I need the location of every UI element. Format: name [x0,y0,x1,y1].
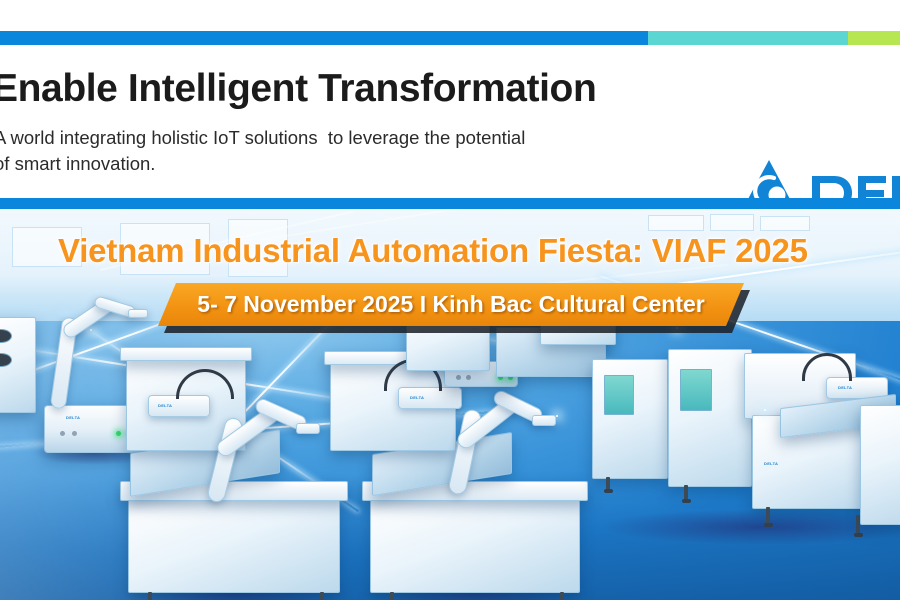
machine-display [604,375,634,415]
background-panel [760,216,810,231]
poster-page: Enable Intelligent Transformation A worl… [0,0,900,600]
header-divider [0,198,900,209]
machine-leg [148,592,152,600]
status-led [72,431,77,436]
brand-mark-label: DELTA [66,415,80,420]
event-title: Vietnam Industrial Automation Fiesta: VI… [58,232,808,270]
background-panel [710,214,754,231]
brand-mark-label: DELTA [764,461,778,466]
topbar-segment-teal [648,31,848,45]
event-date-ribbon: 5- 7 November 2025 I Kinh Bac Cultural C… [158,283,744,326]
machine-leg [560,592,564,600]
subheadline: A world integrating holistic IoT solutio… [0,125,525,177]
robot-gripper [532,415,556,426]
headline: Enable Intelligent Transformation [0,69,596,108]
weld-spark [764,409,766,411]
status-led [466,375,471,380]
line-machine [860,405,900,525]
header-band: Enable Intelligent Transformation A worl… [0,45,900,198]
machine-cabinet-top [120,347,252,361]
brand-mark-label: DELTA [838,385,852,390]
network-spark [90,329,92,331]
workstation-base [370,497,580,593]
top-color-bar [0,31,900,45]
machine-leg [390,592,394,600]
topbar-segment-lime [848,31,900,45]
background-panel [648,215,704,231]
status-led [456,375,461,380]
machine-display [680,369,712,411]
status-led [60,431,65,436]
machine-foot [854,533,863,537]
workstation-base [128,497,340,593]
machine-leg [320,592,324,600]
event-date-venue: 5- 7 November 2025 I Kinh Bac Cultural C… [158,283,744,326]
machine-foot [604,489,613,493]
machine-foot [682,499,691,503]
robot-gripper [296,423,320,434]
topbar-segment-blue [0,31,648,45]
hero-photo: 98% 98% [0,209,900,600]
robot-gripper [128,309,148,318]
line-shadow [600,509,900,545]
brand-mark-label: DELTA [158,403,172,408]
machine-foot [764,523,773,527]
status-led [116,431,121,436]
weld-spark [556,415,558,417]
brand-mark-label: DELTA [410,395,424,400]
